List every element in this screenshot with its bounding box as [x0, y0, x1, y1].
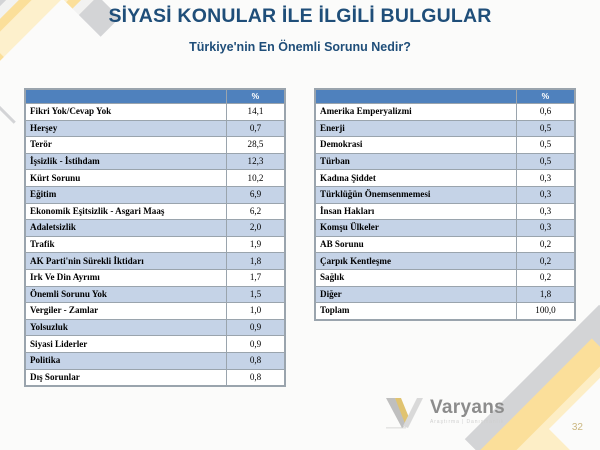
row-label: Önemli Sorunu Yok	[26, 286, 227, 303]
row-value: 0,2	[517, 236, 575, 253]
row-value: 0,3	[517, 186, 575, 203]
table-row: Sağlık0,2	[316, 269, 575, 286]
row-value: 1,8	[517, 286, 575, 303]
row-value: 1,0	[227, 303, 285, 320]
row-label: Sağlık	[316, 269, 517, 286]
row-value: 0,8	[227, 369, 285, 386]
row-label: Komşu Ülkeler	[316, 220, 517, 237]
row-label: AK Parti'nin Sürekli İktidarı	[26, 253, 227, 270]
table-row: Dış Sorunlar0,8	[26, 369, 285, 386]
table-row: Çarpık Kentleşme0,2	[316, 253, 575, 270]
table-row: Fikri Yok/Cevap Yok14,1	[26, 104, 285, 121]
table-left-body: Fikri Yok/Cevap Yok14,1Herşey0,7Terör28,…	[26, 104, 285, 386]
table-row: Türklüğün Önemsenmemesi0,3	[316, 186, 575, 203]
row-label: Vergiler - Zamlar	[26, 303, 227, 320]
brand-logo: Varyans Araştırma | Danışmanlık	[385, 396, 505, 430]
row-value: 0,5	[517, 153, 575, 170]
brand-tagline: Araştırma | Danışmanlık	[430, 420, 505, 425]
table-right-head: %	[316, 90, 575, 104]
row-value: 0,2	[517, 269, 575, 286]
row-value: 0,2	[517, 253, 575, 270]
row-label: Fikri Yok/Cevap Yok	[26, 104, 227, 121]
row-value: 0,3	[517, 170, 575, 187]
row-value: 0,9	[227, 336, 285, 353]
table-row: Kürt Sorunu10,2	[26, 170, 285, 187]
table-row: Trafik1,9	[26, 236, 285, 253]
table-row: Diğer1,8	[316, 286, 575, 303]
table-row: Demokrasi0,5	[316, 137, 575, 154]
row-label: Irk Ve Din Ayrımı	[26, 269, 227, 286]
page-title: SİYASİ KONULAR İLE İLGİLİ BULGULAR	[0, 6, 600, 27]
row-value: 0,7	[227, 120, 285, 137]
table-row: Siyasi Liderler0,9	[26, 336, 285, 353]
row-label: Yolsuzluk	[26, 319, 227, 336]
row-value: 0,9	[227, 319, 285, 336]
decoration-bottom-right-yellow	[465, 339, 600, 450]
table-row: Kadına Şiddet0,3	[316, 170, 575, 187]
table-row: Politika0,8	[26, 352, 285, 369]
table-row: AK Parti'nin Sürekli İktidarı1,8	[26, 253, 285, 270]
table-row: İnsan Hakları0,3	[316, 203, 575, 220]
row-label: Toplam	[316, 303, 517, 320]
table-row: Yolsuzluk0,9	[26, 319, 285, 336]
row-value: 10,2	[227, 170, 285, 187]
row-value: 1,7	[227, 269, 285, 286]
row-value: 2,0	[227, 220, 285, 237]
page-subtitle: Türkiye'nin En Önemli Sorunu Nedir?	[0, 41, 600, 55]
issues-table-primary: % Fikri Yok/Cevap Yok14,1Herşey0,7Terör2…	[25, 89, 285, 386]
row-label: Eğitim	[26, 186, 227, 203]
table-row: Herşey0,7	[26, 120, 285, 137]
brand-wordmark: Varyans	[430, 398, 505, 417]
issues-table-secondary: % Amerika Emperyalizmi0,6Enerji0,5Demokr…	[315, 89, 575, 320]
row-label: Adaletsizlik	[26, 220, 227, 237]
column-header-label	[316, 90, 517, 104]
slide-header: SİYASİ KONULAR İLE İLGİLİ BULGULAR Türki…	[0, 6, 600, 55]
row-value: 1,5	[227, 286, 285, 303]
table-left-header-row: %	[26, 90, 285, 104]
row-value: 100,0	[517, 303, 575, 320]
row-label: Ekonomik Eşitsizlik - Asgari Maaş	[26, 203, 227, 220]
table-row: Vergiler - Zamlar1,0	[26, 303, 285, 320]
table-right-header-row: %	[316, 90, 575, 104]
varyans-chevron-icon	[385, 396, 425, 430]
column-header-percent: %	[227, 90, 285, 104]
row-value: 6,9	[227, 186, 285, 203]
row-value: 6,2	[227, 203, 285, 220]
row-label: Trafik	[26, 236, 227, 253]
row-label: İnsan Hakları	[316, 203, 517, 220]
brand-text-block: Varyans Araştırma | Danışmanlık	[430, 396, 505, 425]
table-left: % Fikri Yok/Cevap Yok14,1Herşey0,7Terör2…	[24, 88, 286, 387]
row-label: Dış Sorunlar	[26, 369, 227, 386]
row-label: Diğer	[316, 286, 517, 303]
slide-canvas: SİYASİ KONULAR İLE İLGİLİ BULGULAR Türki…	[0, 0, 600, 450]
table-row: Türban0,5	[316, 153, 575, 170]
row-label: Herşey	[26, 120, 227, 137]
row-label: Türklüğün Önemsenmemesi	[316, 186, 517, 203]
table-row: Terör28,5	[26, 137, 285, 154]
row-label: Çarpık Kentleşme	[316, 253, 517, 270]
table-row: Ekonomik Eşitsizlik - Asgari Maaş6,2	[26, 203, 285, 220]
table-row: Irk Ve Din Ayrımı1,7	[26, 269, 285, 286]
row-value: 28,5	[227, 137, 285, 154]
row-label: Türban	[316, 153, 517, 170]
row-value: 0,8	[227, 352, 285, 369]
table-row: Toplam100,0	[316, 303, 575, 320]
table-row: Enerji0,5	[316, 120, 575, 137]
table-row: Amerika Emperyalizmi0,6	[316, 104, 575, 121]
table-left-head: %	[26, 90, 285, 104]
table-row: Eğitim6,9	[26, 186, 285, 203]
row-label: Amerika Emperyalizmi	[316, 104, 517, 121]
column-header-label	[26, 90, 227, 104]
row-value: 0,5	[517, 120, 575, 137]
table-row: İşsizlik - İstihdam12,3	[26, 153, 285, 170]
table-right-body: Amerika Emperyalizmi0,6Enerji0,5Demokras…	[316, 104, 575, 320]
row-label: İşsizlik - İstihdam	[26, 153, 227, 170]
row-label: Politika	[26, 352, 227, 369]
table-right: % Amerika Emperyalizmi0,6Enerji0,5Demokr…	[314, 88, 576, 321]
row-value: 0,3	[517, 220, 575, 237]
row-label: Demokrasi	[316, 137, 517, 154]
table-row: Önemli Sorunu Yok1,5	[26, 286, 285, 303]
row-value: 1,8	[227, 253, 285, 270]
row-label: Siyasi Liderler	[26, 336, 227, 353]
row-label: Kürt Sorunu	[26, 170, 227, 187]
row-value: 0,5	[517, 137, 575, 154]
table-row: Adaletsizlik2,0	[26, 220, 285, 237]
page-number: 32	[572, 422, 583, 433]
row-label: Enerji	[316, 120, 517, 137]
row-label: Kadına Şiddet	[316, 170, 517, 187]
table-row: Komşu Ülkeler0,3	[316, 220, 575, 237]
row-label: Terör	[26, 137, 227, 154]
row-value: 1,9	[227, 236, 285, 253]
row-value: 0,6	[517, 104, 575, 121]
row-value: 14,1	[227, 104, 285, 121]
row-value: 12,3	[227, 153, 285, 170]
row-label: AB Sorunu	[316, 236, 517, 253]
row-value: 0,3	[517, 203, 575, 220]
column-header-percent: %	[517, 90, 575, 104]
table-row: AB Sorunu0,2	[316, 236, 575, 253]
